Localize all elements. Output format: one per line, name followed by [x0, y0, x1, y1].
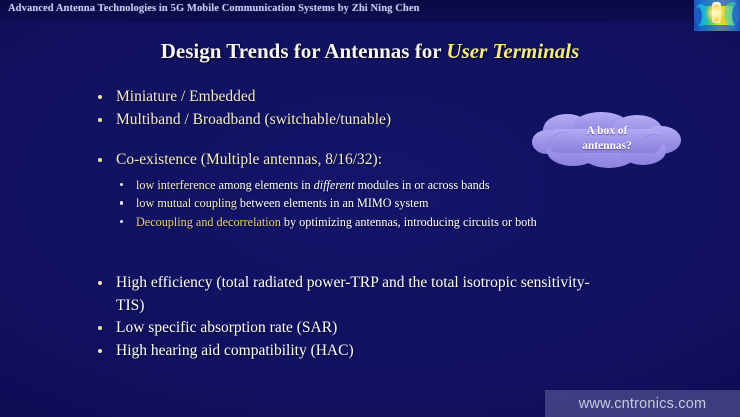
- cloud-callout-text: A box of antennas?: [531, 124, 683, 154]
- bullet-group-sub: low interference among elements in diffe…: [112, 176, 702, 231]
- page-title-accent: User Terminals: [446, 39, 579, 63]
- watermark-text: www.cntronics.com: [579, 396, 707, 412]
- field-plot-thumbnail-icon: [694, 0, 740, 31]
- bullet-label: Miniature / Embedded: [116, 88, 255, 105]
- presentation-slide: Advanced Antenna Technologies in 5G Mobi…: [0, 0, 740, 417]
- list-item: Multiband / Broadband (switchable/tunabl…: [88, 109, 558, 132]
- list-item: High efficiency (total radiated power-TR…: [88, 272, 608, 317]
- sub-list-item: low interference among elements in diffe…: [112, 176, 702, 194]
- bullet-label: High hearing aid compatibility (HAC): [116, 342, 354, 359]
- sub-bullet-text: among elements in: [216, 178, 314, 192]
- bullet-group-bottom: High efficiency (total radiated power-TR…: [88, 272, 608, 362]
- cloud-callout: A box of antennas?: [531, 111, 683, 169]
- sub-list-item: low mutual coupling between elements in …: [112, 194, 702, 212]
- sub-bullet-italic: different: [314, 178, 355, 192]
- sub-bullet-text: between elements in an MIMO system: [237, 196, 429, 210]
- bullet-label: Low specific absorption rate (SAR): [116, 319, 337, 336]
- list-item: High hearing aid compatibility (HAC): [88, 340, 608, 363]
- page-title: Design Trends for Antennas for User Term…: [0, 39, 740, 64]
- bullet-group-top: Miniature / Embedded Multiband / Broadba…: [88, 86, 558, 131]
- sub-bullet-highlight: Decoupling and decorrelation: [136, 215, 281, 229]
- list-item: Miniature / Embedded: [88, 86, 558, 109]
- list-item: Low specific absorption rate (SAR): [88, 317, 608, 340]
- sub-bullet-highlight: low interference: [136, 178, 216, 192]
- sub-list-item: Decoupling and decorrelation by optimizi…: [112, 213, 702, 231]
- watermark-bar: www.cntronics.com: [545, 390, 740, 417]
- sub-bullet-text-tail: modules in or across bands: [355, 178, 490, 192]
- sub-bullet-text: by optimizing antennas, introducing circ…: [281, 215, 537, 229]
- sub-bullet-highlight: low mutual coupling: [136, 196, 237, 210]
- cloud-line-1: A box of: [531, 124, 683, 139]
- bullet-label: Co-existence (Multiple antennas, 8/16/32…: [116, 151, 382, 168]
- bullet-label: Multiband / Broadband (switchable/tunabl…: [116, 111, 391, 128]
- page-title-main: Design Trends for Antennas for: [161, 39, 447, 63]
- bullet-label: High efficiency (total radiated power-TR…: [116, 274, 590, 314]
- list-item: Co-existence (Multiple antennas, 8/16/32…: [88, 149, 558, 172]
- cloud-line-2: antennas?: [531, 139, 683, 154]
- slide-header-title: Advanced Antenna Technologies in 5G Mobi…: [8, 3, 420, 14]
- bullet-group-coexistence: Co-existence (Multiple antennas, 8/16/32…: [88, 149, 558, 172]
